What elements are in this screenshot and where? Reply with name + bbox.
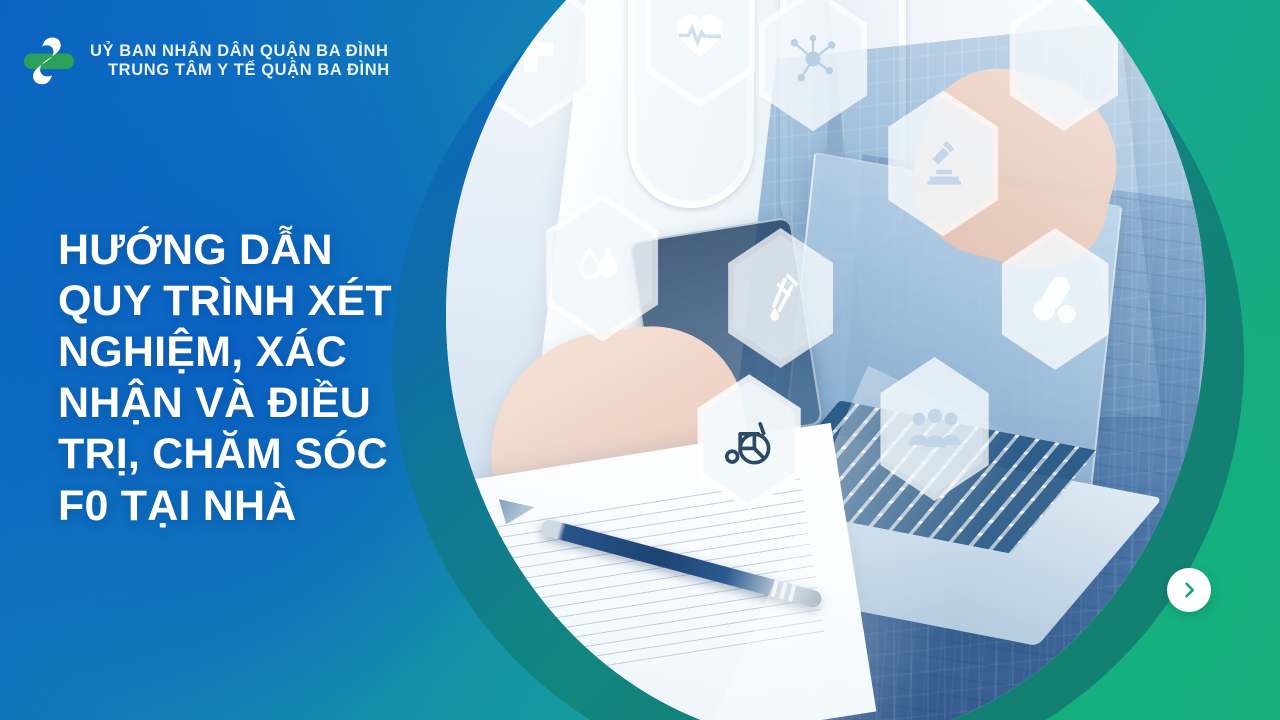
headline-line: NGHIỆM, XÁC <box>58 327 458 378</box>
headline-line: TRỊ, CHĂM SÓC <box>58 429 458 480</box>
headline-line: NHẬN VÀ ĐIỀU <box>58 378 458 429</box>
org-line-1: UỶ BAN NHÂN DÂN QUẬN BA ĐÌNH <box>90 42 390 61</box>
slide-root: UỶ BAN NHÂN DÂN QUẬN BA ĐÌNH TRUNG TÂM Y… <box>0 0 1280 720</box>
next-slide-button[interactable] <box>1167 568 1211 612</box>
medical-cross-swoosh-logo <box>22 34 76 88</box>
org-line-2: TRUNG TÂM Y TẾ QUẬN BA ĐÌNH <box>90 61 390 80</box>
page-title: HƯỚNG DẪN QUY TRÌNH XÉT NGHIỆM, XÁC NHẬN… <box>58 225 458 532</box>
header-lockup: UỶ BAN NHÂN DÂN QUẬN BA ĐÌNH TRUNG TÂM Y… <box>22 34 390 88</box>
hero-photo-circle <box>446 0 1206 720</box>
headline-line: HƯỚNG DẪN <box>58 225 458 276</box>
headline-line: F0 TẠI NHÀ <box>58 481 458 532</box>
headline-line: QUY TRÌNH XÉT <box>58 276 458 327</box>
chevron-right-icon <box>1179 580 1199 600</box>
organisation-name: UỶ BAN NHÂN DÂN QUẬN BA ĐÌNH TRUNG TÂM Y… <box>90 42 390 81</box>
